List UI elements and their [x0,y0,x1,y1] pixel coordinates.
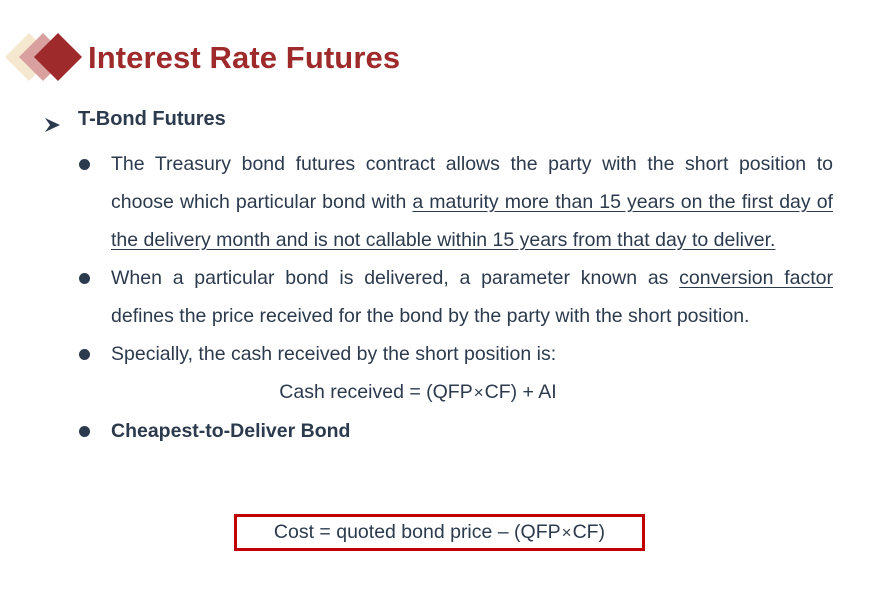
bullet-text-plain: Cheapest-to-Deliver Bond [111,420,350,442]
round-bullet-icon [79,273,90,284]
formula-cost-text: Cost = quoted bond price – (QFP×CF) [274,523,605,543]
formula-cash-received: Cash received = (QFP×CF) + AI [0,373,878,412]
bullet-treasury-contract: The Treasury bond futures contract allow… [0,145,878,259]
bullet-text-plain: When a particular bond is delivered, a p… [111,267,679,289]
bullet-cash-received: Specially, the cash received by the shor… [0,335,878,373]
slide-body: T-Bond Futures The Treasury bond futures… [0,103,878,450]
slide-title-row: Interest Rate Futures [0,26,878,88]
formula-lhs: Cash received = (QFP [279,381,472,403]
formula-cost-box: Cost = quoted bond price – (QFP×CF) [234,514,645,551]
bullet-cheapest-to-deliver: Cheapest-to-Deliver Bond [0,412,878,450]
section-heading-t-bond-futures: T-Bond Futures [0,103,878,135]
arrow-bullet-icon [44,111,62,127]
page-title: Interest Rate Futures [88,42,400,73]
bullet-text-plain-tail: defines the price received for the bond … [111,305,749,327]
round-bullet-icon [79,159,90,170]
multiply-icon: × [561,523,573,542]
formula-lhs: Cost = quoted bond price – (QFP [274,521,561,543]
bullet-text-underlined: conversion factor [679,267,833,289]
bullet-conversion-factor: When a particular bond is delivered, a p… [0,259,878,335]
round-bullet-icon [79,426,90,437]
section-heading-label: T-Bond Futures [78,108,226,130]
multiply-icon: × [473,383,485,402]
formula-rhs: CF) + AI [485,381,557,403]
formula-rhs: CF) [573,521,606,543]
bullet-text-plain: Specially, the cash received by the shor… [111,343,556,365]
round-bullet-icon [79,349,90,360]
three-diamonds-icon [10,31,84,83]
